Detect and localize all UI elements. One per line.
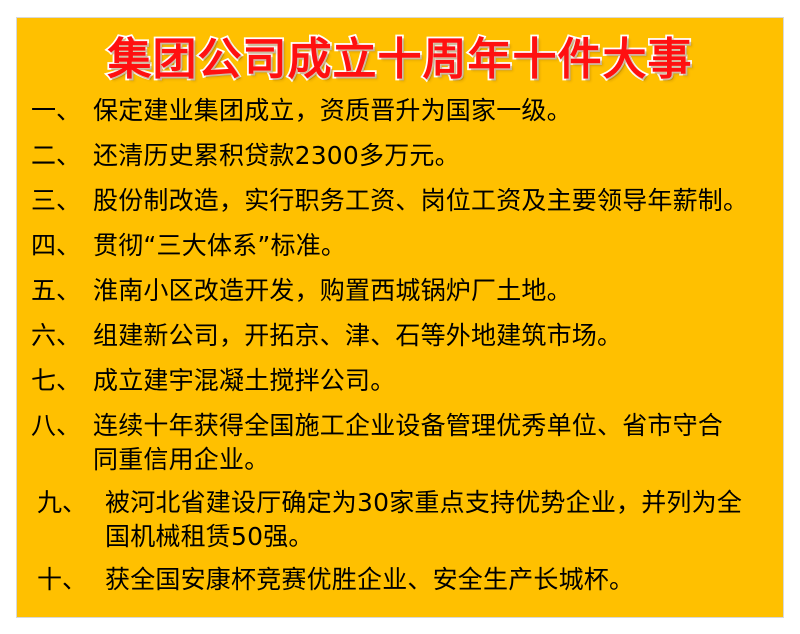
list-item-marker: 二、 bbox=[31, 139, 93, 173]
poster-root: 集团公司成立十周年十件大事 一、 保定建业集团成立，资质晋升为国家一级。 二、 … bbox=[0, 0, 800, 634]
list-item: 五、 淮南小区改造开发，购置西城锅炉厂土地。 bbox=[31, 274, 769, 308]
list-item: 二、 还清历史累积贷款2300多万元。 bbox=[31, 139, 769, 173]
page-title: 集团公司成立十周年十件大事 bbox=[108, 38, 693, 82]
list-item-text: 获全国安康杯竞赛优胜企业、安全生产长城杯。 bbox=[105, 563, 769, 597]
list-item: 九、 被河北省建设厅确定为30家重点支持优势企业，并列为全国机械租赁50强。 bbox=[31, 486, 769, 554]
list-item: 七、 成立建宇混凝土搅拌公司。 bbox=[31, 364, 769, 398]
list-item-marker: 四、 bbox=[31, 229, 93, 263]
list-item-text: 组建新公司，开拓京、津、石等外地建筑市场。 bbox=[93, 319, 769, 353]
list-item: 八、 连续十年获得全国施工企业设备管理优秀单位、省市守合同重信用企业。 bbox=[31, 409, 769, 477]
list-item-text: 成立建宇混凝土搅拌公司。 bbox=[93, 364, 769, 398]
list-item-marker: 七、 bbox=[31, 364, 93, 398]
list-item-text: 还清历史累积贷款2300多万元。 bbox=[93, 139, 769, 173]
list-item-text: 连续十年获得全国施工企业设备管理优秀单位、省市守合同重信用企业。 bbox=[93, 409, 733, 477]
list-item-marker: 五、 bbox=[31, 274, 93, 308]
list-item-text: 保定建业集团成立，资质晋升为国家一级。 bbox=[93, 94, 769, 128]
poster-panel: 集团公司成立十周年十件大事 一、 保定建业集团成立，资质晋升为国家一级。 二、 … bbox=[16, 17, 784, 618]
list-item: 四、 贯彻“三大体系”标准。 bbox=[31, 229, 769, 263]
list-item-marker: 六、 bbox=[31, 319, 93, 353]
list-item: 三、 股份制改造，实行职务工资、岗位工资及主要领导年薪制。 bbox=[31, 184, 769, 218]
list-item-text: 股份制改造，实行职务工资、岗位工资及主要领导年薪制。 bbox=[93, 184, 769, 218]
list-item: 一、 保定建业集团成立，资质晋升为国家一级。 bbox=[31, 94, 769, 128]
list-item-marker: 十、 bbox=[31, 563, 105, 597]
list-item-marker: 三、 bbox=[31, 184, 93, 218]
list-item-marker: 一、 bbox=[31, 94, 93, 128]
achievements-list: 一、 保定建业集团成立，资质晋升为国家一级。 二、 还清历史累积贷款2300多万… bbox=[17, 94, 783, 608]
list-item-text: 淮南小区改造开发，购置西城锅炉厂土地。 bbox=[93, 274, 769, 308]
list-item-text: 贯彻“三大体系”标准。 bbox=[93, 229, 769, 263]
list-item-text: 被河北省建设厅确定为30家重点支持优势企业，并列为全国机械租赁50强。 bbox=[105, 486, 745, 554]
list-item: 十、 获全国安康杯竞赛优胜企业、安全生产长城杯。 bbox=[31, 563, 769, 597]
list-item-marker: 九、 bbox=[31, 486, 105, 520]
list-item-marker: 八、 bbox=[31, 409, 93, 443]
list-item: 六、 组建新公司，开拓京、津、石等外地建筑市场。 bbox=[31, 319, 769, 353]
poster-title-container: 集团公司成立十周年十件大事 bbox=[17, 29, 783, 91]
